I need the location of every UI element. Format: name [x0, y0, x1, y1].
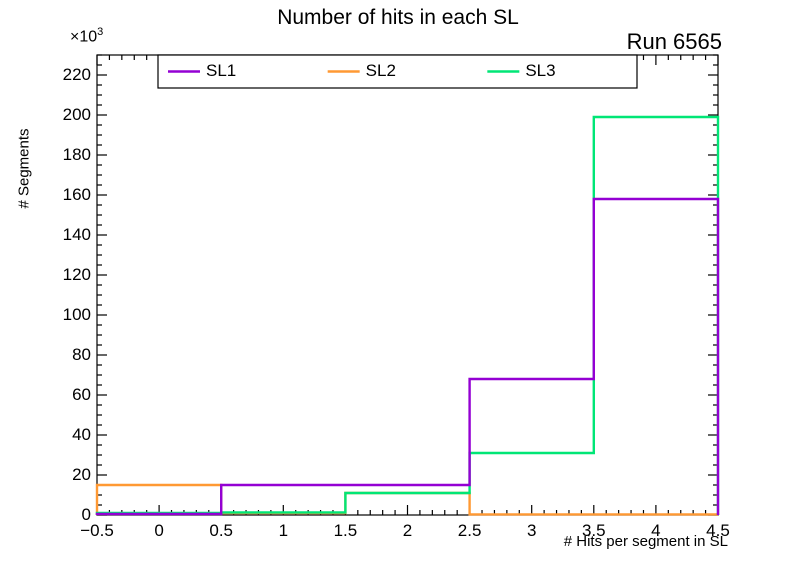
plot-frame-rect: [97, 55, 718, 515]
x-tick-label: 2.5: [435, 521, 505, 541]
y-tick-label: 20: [33, 465, 91, 485]
histogram-line-sl3: [97, 117, 718, 515]
x-tick-label: 1.5: [310, 521, 380, 541]
x-tick-label: 4: [621, 521, 691, 541]
x-tick-label: 4.5: [683, 521, 753, 541]
y-tick-label: 120: [33, 265, 91, 285]
y-tick-label: 140: [33, 225, 91, 245]
y-tick-label: 80: [33, 345, 91, 365]
histogram-line-sl1: [97, 199, 718, 515]
x-tick-label: 3.5: [559, 521, 629, 541]
y-tick-label: 160: [33, 185, 91, 205]
plot-frame: [97, 55, 718, 515]
histogram-series: [97, 117, 718, 515]
plot-area: [0, 0, 796, 572]
x-tick-label: 2: [373, 521, 443, 541]
root-canvas: Number of hits in each SL Run 6565 # Seg…: [0, 0, 796, 572]
y-tick-label: 220: [33, 65, 91, 85]
x-tick-label: 1: [248, 521, 318, 541]
legend-label-sl1: SL1: [206, 61, 236, 81]
y-tick-label: 200: [33, 105, 91, 125]
x-tick-label: 3: [497, 521, 567, 541]
x-tick-label: 0: [124, 521, 194, 541]
legend-label-sl2: SL2: [366, 61, 396, 81]
x-tick-label: 0.5: [186, 521, 256, 541]
axis-ticks: [97, 55, 718, 515]
x-tick-label: −0.5: [62, 521, 132, 541]
y-tick-label: 60: [33, 385, 91, 405]
y-tick-label: 100: [33, 305, 91, 325]
y-tick-label: 40: [33, 425, 91, 445]
legend-label-sl3: SL3: [525, 61, 555, 81]
y-tick-label: 180: [33, 145, 91, 165]
